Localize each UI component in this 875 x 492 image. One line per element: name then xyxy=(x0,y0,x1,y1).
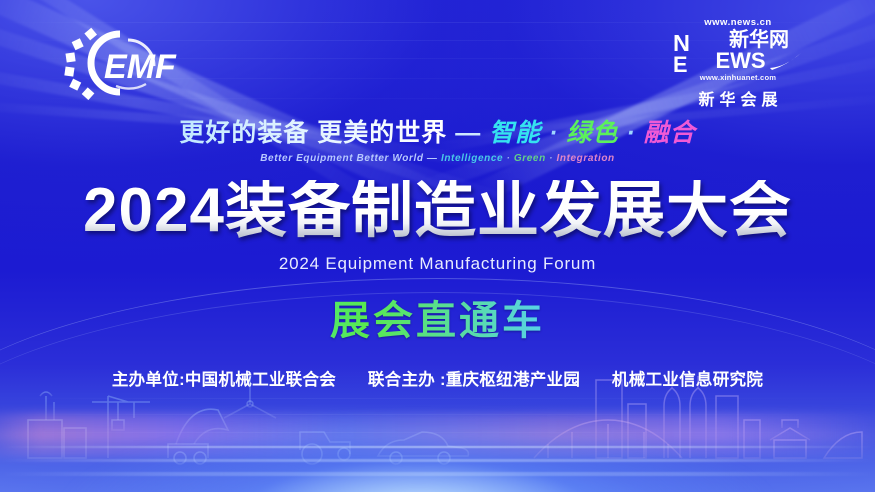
xinhua-wordmark: N E 新华网 EWS xyxy=(672,28,804,74)
xinhua-news-word: EWS xyxy=(715,50,765,72)
tagline-en-dot-1: · xyxy=(507,153,511,164)
tagline-en-green: Green xyxy=(514,153,546,164)
skyscraper-icon xyxy=(596,368,646,458)
tagline-dash: — xyxy=(455,119,481,147)
crane-icon xyxy=(92,396,150,458)
skyline-silhouettes xyxy=(0,362,875,492)
car-icon xyxy=(378,432,468,464)
swoosh-icon xyxy=(769,51,803,71)
tagline-part1: 更好的装备 更美的世界 xyxy=(179,119,447,147)
tagline-en-smart: Intelligence xyxy=(441,153,503,164)
poster-canvas: EMF www.news.cn N E 新华网 EWS www.xinhuane… xyxy=(0,0,875,492)
tagline-smart: 智能 xyxy=(489,119,541,147)
factory-icon xyxy=(28,392,86,458)
tagline-integration: 融合 xyxy=(644,119,696,147)
xinhua-url-top: www.news.cn xyxy=(672,18,804,28)
tagline-dot-1: · xyxy=(549,119,558,147)
main-title: 2024装备制造业发展大会 xyxy=(0,180,875,242)
wind-turbine-icon xyxy=(224,376,276,458)
svg-text:E: E xyxy=(673,52,688,74)
express-title: 展会直通车 xyxy=(0,288,875,346)
subtitle-en: 2024 Equipment Manufacturing Forum xyxy=(0,254,875,274)
excavator-icon xyxy=(168,409,228,464)
tagline-cn: 更好的装备 更美的世界 — 智能 · 绿色 · 融合 xyxy=(0,120,875,148)
poster-content: 更好的装备 更美的世界 — 智能 · 绿色 · 融合 Better Equipm… xyxy=(0,120,875,390)
pagoda-icon xyxy=(770,420,810,458)
xinhua-expo-name: 新华会展 xyxy=(672,86,804,110)
clock-tower-icon xyxy=(716,382,760,458)
bridge-icon xyxy=(520,420,700,458)
tractor-icon xyxy=(300,432,350,464)
stadium-icon xyxy=(824,432,866,458)
tagline-dot-2: · xyxy=(626,119,635,147)
tagline-green: 绿色 xyxy=(566,119,618,147)
xinhua-n-icon: N E xyxy=(673,28,713,74)
emf-logo: EMF xyxy=(58,26,184,100)
emf-logo-text: EMF xyxy=(104,48,177,86)
xinhua-logo: www.news.cn N E 新华网 EWS www.xinhuanet.co… xyxy=(672,18,804,110)
tagline-en-part1: Better Equipment Better World — xyxy=(260,153,437,164)
tagline-en-dot-2: · xyxy=(549,153,553,164)
xinhua-cn-name: 新华网 xyxy=(715,30,802,50)
tagline-en-integration: Integration xyxy=(557,153,615,164)
xinhua-url-bottom: www.xinhuanet.com xyxy=(672,74,804,82)
tagline-en: Better Equipment Better World — Intellig… xyxy=(0,153,875,164)
